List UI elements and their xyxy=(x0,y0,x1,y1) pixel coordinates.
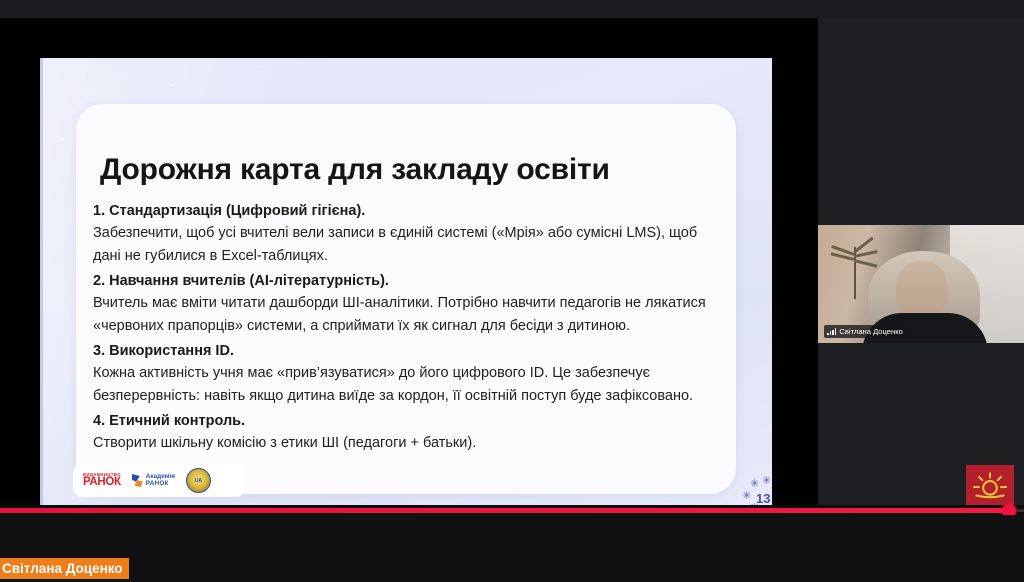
block-4-text: Створити шкільну комісію з етики ШІ (пед… xyxy=(93,432,723,455)
block-4-heading: 4. Етичний контроль. xyxy=(93,411,723,432)
presenter-name: Світлана Доценко xyxy=(839,327,902,336)
block-2-heading: 2. Навчання вчителів (AI-літературність)… xyxy=(93,271,723,292)
academy-mark-icon xyxy=(132,474,144,487)
sun-icon xyxy=(973,472,1007,502)
slide-left-edge xyxy=(40,58,43,505)
video-progress-bar[interactable] xyxy=(0,505,1024,515)
snowflake-icon: ✳ xyxy=(750,479,759,490)
snowflake-icon: ✳ xyxy=(742,491,751,502)
accreditation-seal-icon: UA xyxy=(186,468,211,493)
block-1-heading: 1. Стандартизація (Цифровий гігієна). xyxy=(93,201,723,222)
block-3-heading: 3. Використання ID. xyxy=(93,341,723,362)
signal-bars-icon xyxy=(827,328,836,335)
presenter-name-badge: Світлана Доценко xyxy=(824,325,908,338)
publisher-ranok-logo: ВИДАВНИЦТВО РАНОК xyxy=(83,473,121,489)
slide-body: 1. Стандартизація (Цифровий гігієна). За… xyxy=(93,198,723,455)
publisher-name: РАНОК xyxy=(83,477,121,489)
live-caption-bar: Світлана Доценко xyxy=(0,558,129,579)
slide-logo-bar: ВИДАВНИЦТВО РАНОК Академія РАНОК UA xyxy=(73,464,245,497)
block-1-text: Забезпечити, щоб усі вчителі вели записи… xyxy=(93,222,723,268)
snowflake-icon: ✳ xyxy=(762,476,771,487)
slide-title: Дорожня карта для закладу освіти xyxy=(100,153,720,187)
video-stage[interactable]: Дорожня карта для закладу освіти 1. Стан… xyxy=(0,18,1024,505)
block-2-text: Вчитель має вміти читати дашборди ШІ-ана… xyxy=(93,292,723,338)
seal-text: UA xyxy=(195,478,202,484)
caption-text: Світлана Доценко xyxy=(0,561,129,576)
player-control-bar: Прямой эфир xyxy=(0,515,1024,582)
presenter-webcam-overlay[interactable]: Світлана Доценко xyxy=(818,225,1024,343)
player-page: Дорожня карта для закладу освіти 1. Стан… xyxy=(0,0,1024,582)
block-3-text: Кожна активність учня має «прив’язуватис… xyxy=(93,362,723,408)
academy-ranok-logo: Академія РАНОК xyxy=(132,474,175,487)
browser-top-strip xyxy=(0,0,1024,18)
slide-page-number-decoration: 13 ✳ ✳ ✳ ✳ ✳ ✳ ✳ ✳ xyxy=(738,481,772,505)
presenter-face xyxy=(896,261,948,321)
ranok-sun-badge xyxy=(966,465,1014,505)
academy-line2: РАНОК xyxy=(146,481,175,488)
presentation-slide: Дорожня карта для закладу освіти 1. Стан… xyxy=(40,58,772,505)
progress-fill xyxy=(0,508,1010,513)
